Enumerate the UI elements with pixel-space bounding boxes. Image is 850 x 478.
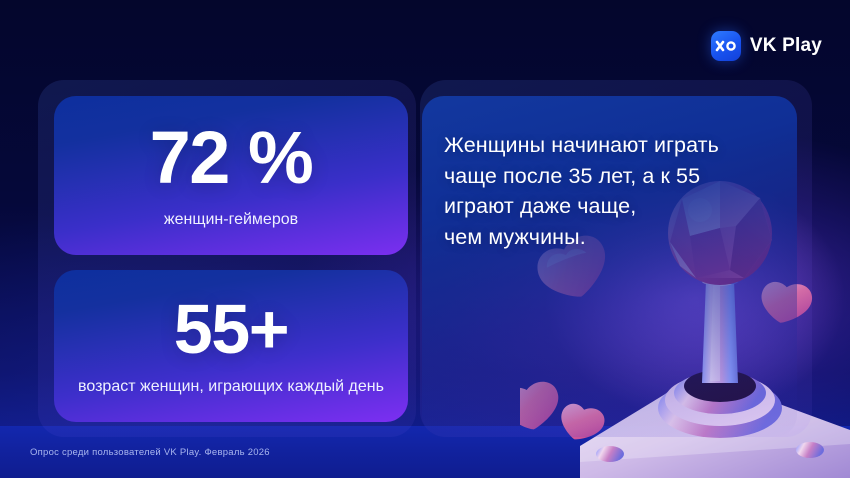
- stat-caption-women-gamers: женщин-геймеров: [164, 209, 298, 231]
- infographic-canvas: 72 % женщин-геймеров 55+ возраст женщин,…: [0, 0, 850, 478]
- vk-play-logo-text: VK Play: [750, 35, 822, 57]
- gamepad-face-icon: [715, 39, 737, 53]
- stat-value-72-percent: 72 %: [150, 121, 313, 195]
- source-note: Опрос среди пользователей VK Play. Февра…: [30, 447, 270, 458]
- insight-paragraph: Женщины начинают играть чаще после 35 ле…: [444, 130, 719, 252]
- insight-text-card: Женщины начинают играть чаще после 35 ле…: [422, 96, 797, 437]
- vk-play-logo-mark: [711, 31, 741, 61]
- stat-caption-daily-players-age: возраст женщин, играющих каждый день: [78, 376, 384, 398]
- stat-value-55-plus: 55+: [174, 294, 289, 364]
- stat-card-percent-women-gamers: 72 % женщин-геймеров: [54, 96, 408, 255]
- stat-card-age-55-plus: 55+ возраст женщин, играющих каждый день: [54, 270, 408, 422]
- vk-play-logo[interactable]: VK Play: [711, 31, 822, 61]
